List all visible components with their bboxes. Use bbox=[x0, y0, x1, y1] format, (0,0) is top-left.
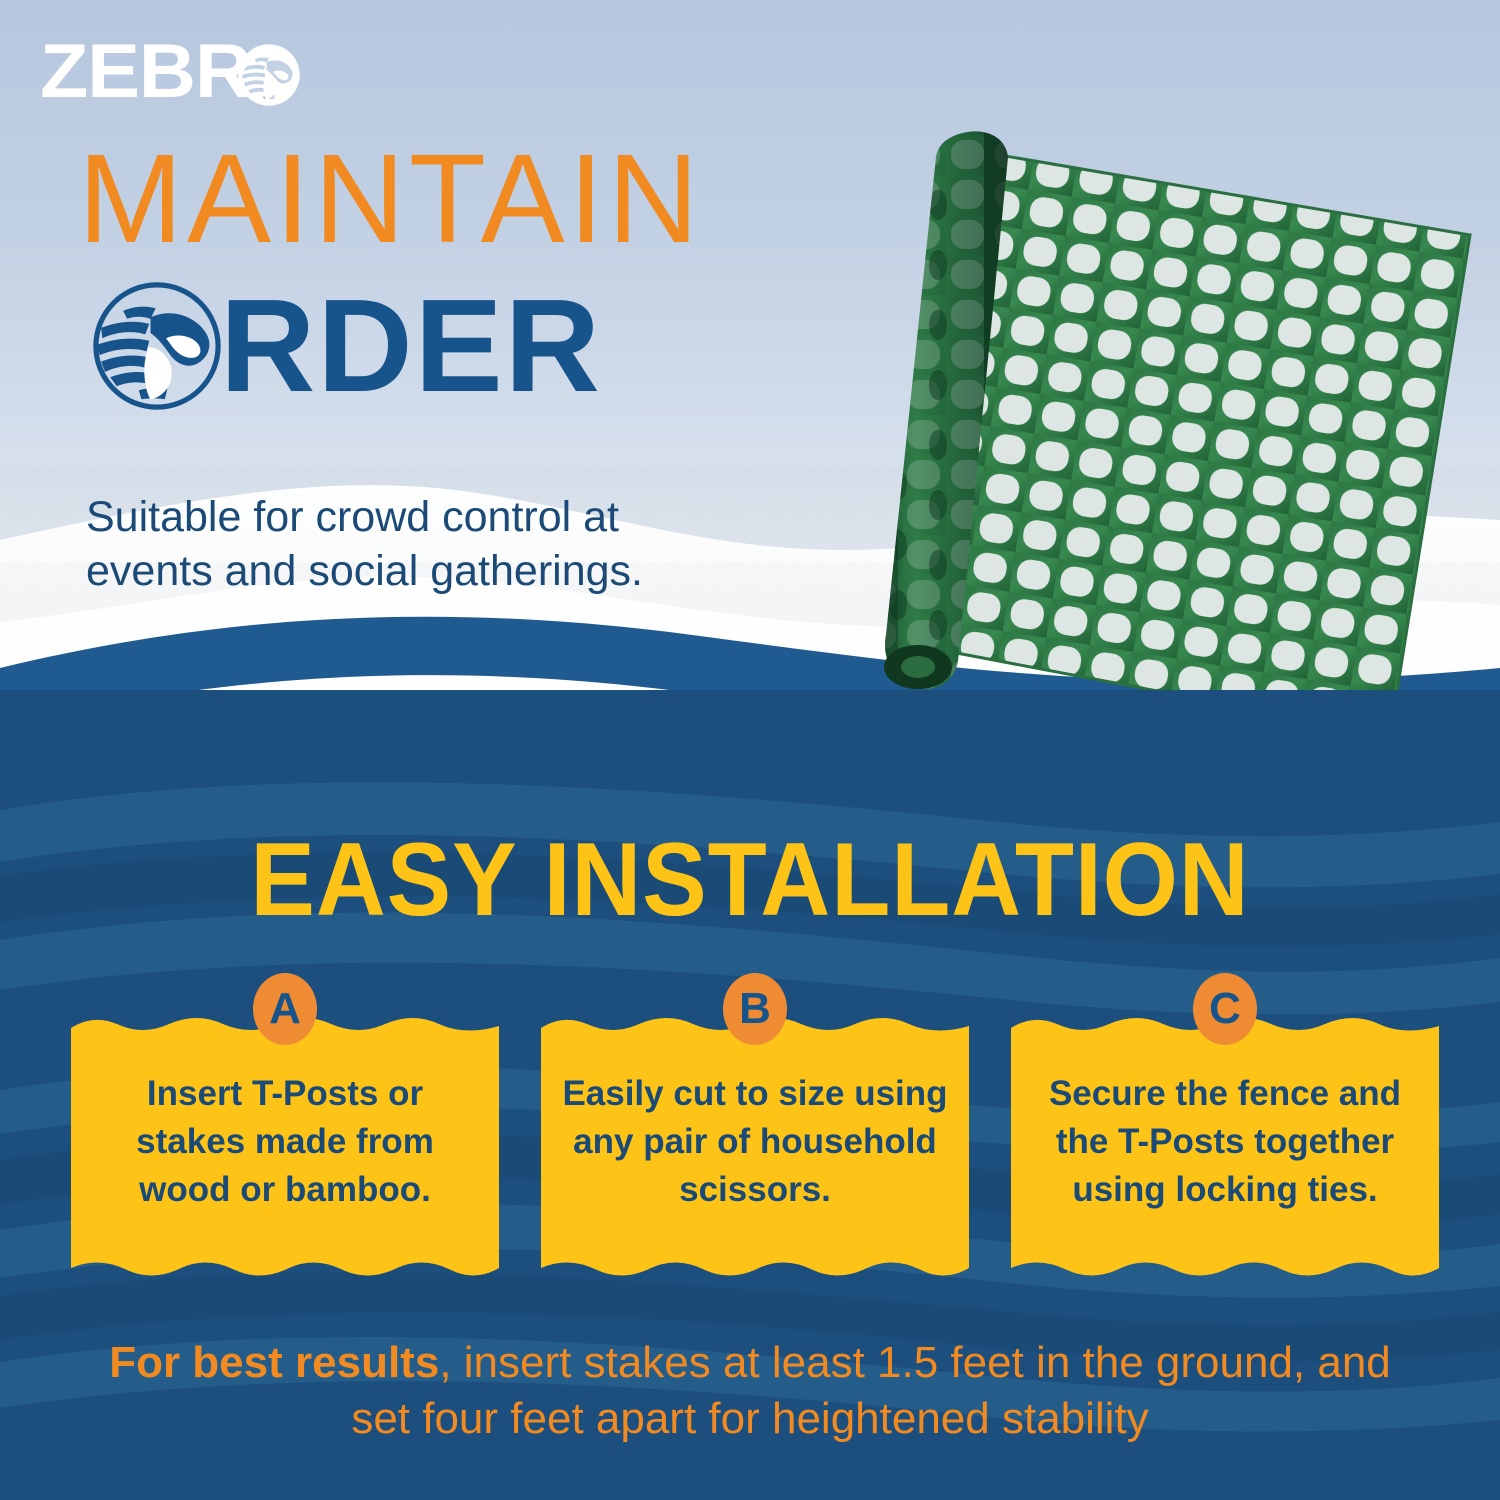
install-step-card-a: Insert T-Posts or stakes made from wood … bbox=[65, 1010, 505, 1285]
footer-tip-rest: , insert stakes at least 1.5 feet in the… bbox=[351, 1338, 1390, 1443]
headline-block: MAINTAIN RDER bbox=[78, 140, 703, 412]
headline-subtitle: Suitable for crowd control at events and… bbox=[86, 490, 746, 598]
install-step-text: Insert T-Posts or stakes made from wood … bbox=[91, 1070, 479, 1214]
install-step-card-c: Secure the fence and the T-Posts togethe… bbox=[1005, 1010, 1445, 1285]
install-step-card-b: Easily cut to size using any pair of hou… bbox=[535, 1010, 975, 1285]
zebra-head-circle-icon bbox=[92, 281, 222, 411]
easy-installation-heading: EASY INSTALLATION bbox=[53, 828, 1448, 932]
step-badge-letter: C bbox=[1191, 972, 1259, 1046]
step-badge-b: B bbox=[721, 972, 789, 1046]
footer-tip: For best results, insert stakes at least… bbox=[90, 1335, 1410, 1447]
headline-line-1: MAINTAIN bbox=[78, 140, 703, 258]
step-badge-a: A bbox=[251, 972, 319, 1046]
brand-logo: ZEBR bbox=[40, 33, 301, 111]
headline-order-text: RDER bbox=[220, 280, 602, 412]
step-badge-letter: A bbox=[251, 972, 319, 1046]
footer-tip-lead: For best results bbox=[109, 1338, 439, 1387]
install-step-text: Secure the fence and the T-Posts togethe… bbox=[1031, 1070, 1419, 1214]
brand-name-text: ZEBR bbox=[40, 33, 251, 111]
product-infographic-poster: ZEBR MAINTAIN bbox=[0, 0, 1500, 1500]
step-badge-letter: B bbox=[721, 972, 789, 1046]
step-badge-c: C bbox=[1191, 972, 1259, 1046]
installation-steps-row: Insert T-Posts or stakes made from wood … bbox=[0, 975, 1500, 1295]
install-step-text: Easily cut to size using any pair of hou… bbox=[561, 1070, 949, 1214]
headline-line-2: RDER bbox=[92, 280, 703, 412]
